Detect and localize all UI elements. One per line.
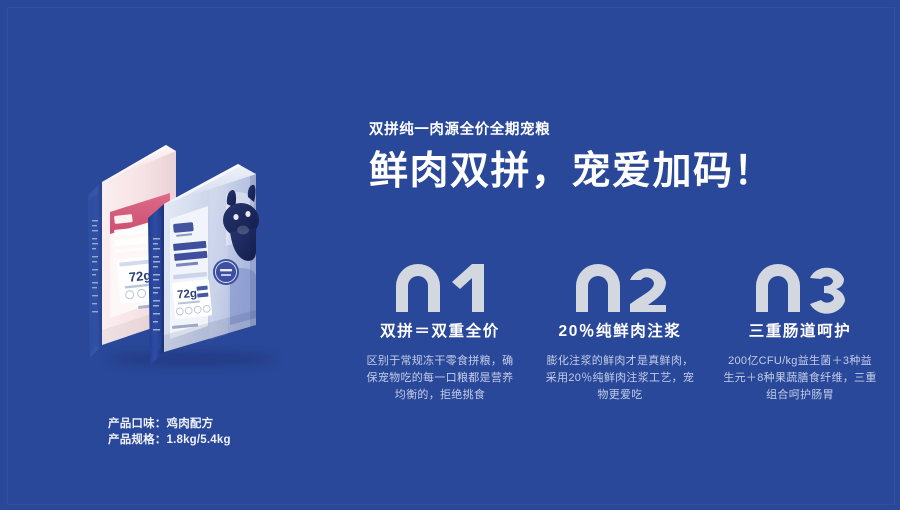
- main-headline: 鲜肉双拼，宠爱加码！: [369, 150, 879, 194]
- headline-copy-block: 双拼纯一肉源全价全期宠粮 鲜肉双拼，宠爱加码！: [369, 120, 879, 194]
- feature-body-02: 膨化注浆的鲜肉才是真鲜肉，采用20％纯鲜肉注浆工艺，宠物更爱吃: [530, 353, 710, 404]
- feature-number-03: [710, 262, 890, 320]
- feature-number-01: [350, 262, 530, 320]
- feature-title-01: 双拼＝双重全价: [350, 322, 530, 342]
- product-packshot: 72g: [60, 120, 320, 390]
- feature-body-01: 区别于常规冻干零食拼粮，确保宠物吃的每一口粮都是营养均衡的，拒绝挑食: [350, 353, 530, 404]
- poster-canvas: 72g: [0, 0, 900, 510]
- product-spec-block: 产品口味：鸡肉配方 产品规格：1.8kg/5.4kg: [108, 416, 231, 448]
- feature-body-03: 200亿CFU/kg益生菌＋3种益生元＋8种果蔬膳食纤维，三重组合呵护肠胃: [710, 353, 890, 404]
- feature-number-02: [530, 262, 710, 320]
- spec-size: 产品规格：1.8kg/5.4kg: [108, 432, 231, 448]
- svg-text:72g: 72g: [128, 267, 152, 284]
- svg-text:72g: 72g: [177, 288, 198, 302]
- feature-item-01: 双拼＝双重全价 区别于常规冻干零食拼粮，确保宠物吃的每一口粮都是营养均衡的，拒绝…: [350, 262, 530, 404]
- feature-title-03: 三重肠道呵护: [710, 322, 890, 342]
- feature-item-03: 三重肠道呵护 200亿CFU/kg益生菌＋3种益生元＋8种果蔬膳食纤维，三重组合…: [710, 262, 890, 404]
- spec-flavor: 产品口味：鸡肉配方: [108, 416, 231, 432]
- feature-list: 双拼＝双重全价 区别于常规冻干零食拼粮，确保宠物吃的每一口粮都是营养均衡的，拒绝…: [350, 262, 890, 404]
- feature-title-02: 20％纯鲜肉注浆: [530, 322, 710, 342]
- eyebrow-text: 双拼纯一肉源全价全期宠粮: [369, 120, 879, 140]
- feature-item-02: 20％纯鲜肉注浆 膨化注浆的鲜肉才是真鲜肉，采用20％纯鲜肉注浆工艺，宠物更爱吃: [530, 262, 710, 404]
